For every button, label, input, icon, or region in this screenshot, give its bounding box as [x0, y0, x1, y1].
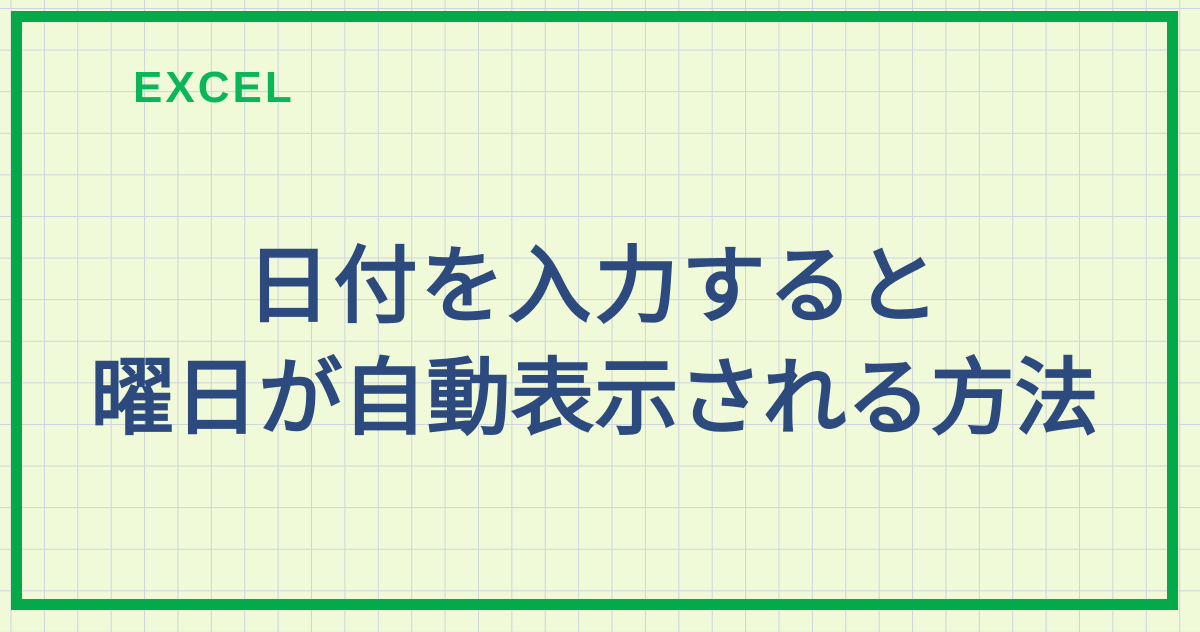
page-title: 日付を入力すると 曜日が自動表示される方法 — [22, 230, 1167, 454]
page-title-line-2: 曜日が自動表示される方法 — [22, 342, 1167, 454]
page-title-line-1: 日付を入力すると — [22, 230, 1167, 342]
thumbnail-canvas: EXCEL 日付を入力すると 曜日が自動表示される方法 — [0, 0, 1200, 632]
content-area: EXCEL 日付を入力すると 曜日が自動表示される方法 — [22, 22, 1167, 599]
eyebrow-label-excel: EXCEL — [133, 66, 295, 110]
